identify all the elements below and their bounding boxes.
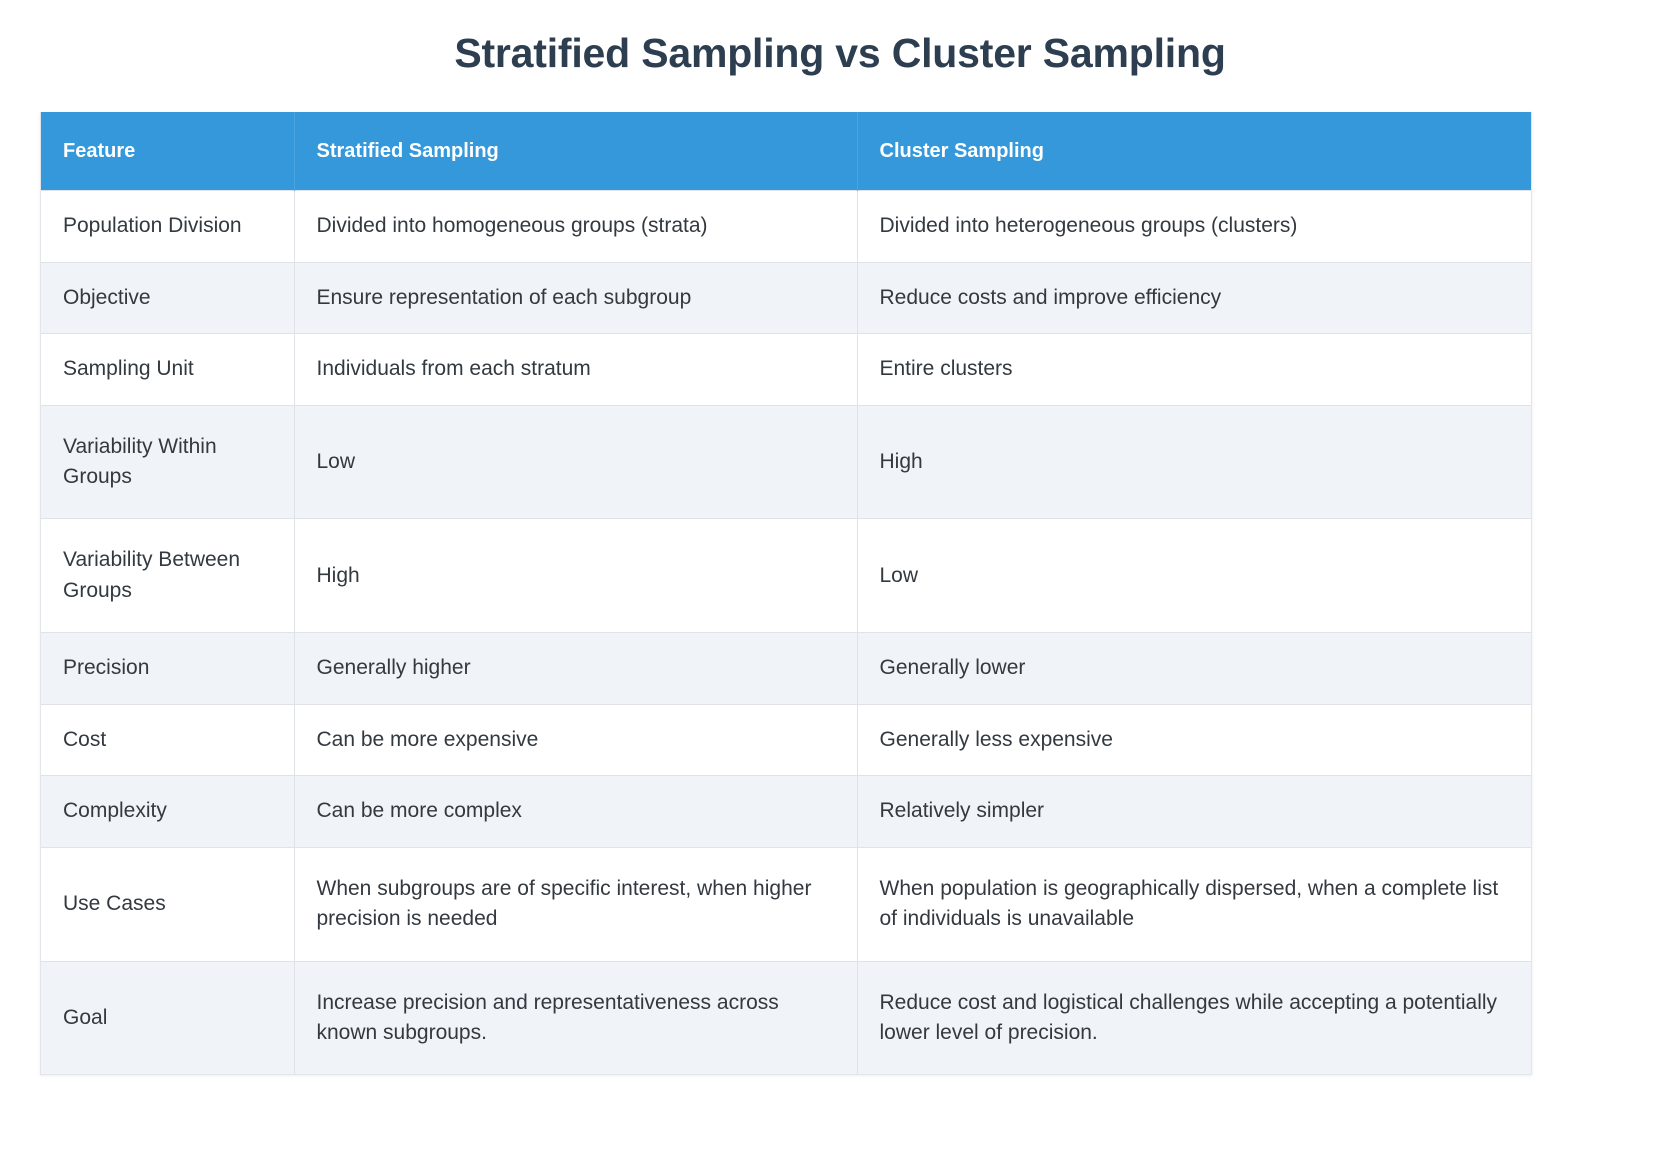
column-header-cluster: Cluster Sampling — [857, 112, 1531, 191]
comparison-table: Feature Stratified Sampling Cluster Samp… — [41, 112, 1531, 1074]
column-header-stratified: Stratified Sampling — [294, 112, 857, 191]
cell-feature: Goal — [41, 961, 294, 1074]
cell-stratified: High — [294, 519, 857, 633]
cell-stratified: Ensure representation of each subgroup — [294, 262, 857, 333]
cell-cluster: Low — [857, 519, 1531, 633]
table-body: Population Division Divided into homogen… — [41, 191, 1531, 1075]
cell-cluster: Generally less expensive — [857, 704, 1531, 775]
page-title: Stratified Sampling vs Cluster Sampling — [0, 0, 1680, 79]
cell-feature: Complexity — [41, 776, 294, 847]
cell-cluster: Reduce cost and logistical challenges wh… — [857, 961, 1531, 1074]
cell-feature: Sampling Unit — [41, 334, 294, 405]
cell-stratified: Divided into homogeneous groups (strata) — [294, 191, 857, 262]
cell-feature: Variability Between Groups — [41, 519, 294, 633]
page-root: Stratified Sampling vs Cluster Sampling … — [0, 0, 1680, 1164]
cell-stratified: Increase precision and representativenes… — [294, 961, 857, 1074]
table-row: Variability Between Groups High Low — [41, 519, 1531, 633]
table-header: Feature Stratified Sampling Cluster Samp… — [41, 112, 1531, 191]
table-row: Cost Can be more expensive Generally les… — [41, 704, 1531, 775]
cell-feature: Variability Within Groups — [41, 405, 294, 519]
cell-feature: Use Cases — [41, 847, 294, 961]
cell-cluster: When population is geographically disper… — [857, 847, 1531, 961]
cell-stratified: Generally higher — [294, 633, 857, 704]
table-row: Variability Within Groups Low High — [41, 405, 1531, 519]
cell-cluster: Relatively simpler — [857, 776, 1531, 847]
table-row: Goal Increase precision and representati… — [41, 961, 1531, 1074]
cell-feature: Precision — [41, 633, 294, 704]
cell-stratified: Can be more complex — [294, 776, 857, 847]
cell-stratified: Low — [294, 405, 857, 519]
cell-cluster: Divided into heterogeneous groups (clust… — [857, 191, 1531, 262]
comparison-table-container: Feature Stratified Sampling Cluster Samp… — [40, 112, 1532, 1075]
table-row: Objective Ensure representation of each … — [41, 262, 1531, 333]
cell-stratified: Individuals from each stratum — [294, 334, 857, 405]
cell-feature: Objective — [41, 262, 294, 333]
table-row: Precision Generally higher Generally low… — [41, 633, 1531, 704]
table-row: Complexity Can be more complex Relativel… — [41, 776, 1531, 847]
cell-stratified: Can be more expensive — [294, 704, 857, 775]
cell-cluster: Entire clusters — [857, 334, 1531, 405]
cell-cluster: Generally lower — [857, 633, 1531, 704]
column-header-feature: Feature — [41, 112, 294, 191]
cell-feature: Cost — [41, 704, 294, 775]
cell-cluster: High — [857, 405, 1531, 519]
cell-cluster: Reduce costs and improve efficiency — [857, 262, 1531, 333]
table-row: Sampling Unit Individuals from each stra… — [41, 334, 1531, 405]
table-header-row: Feature Stratified Sampling Cluster Samp… — [41, 112, 1531, 191]
table-row: Population Division Divided into homogen… — [41, 191, 1531, 262]
table-row: Use Cases When subgroups are of specific… — [41, 847, 1531, 961]
cell-feature: Population Division — [41, 191, 294, 262]
cell-stratified: When subgroups are of specific interest,… — [294, 847, 857, 961]
